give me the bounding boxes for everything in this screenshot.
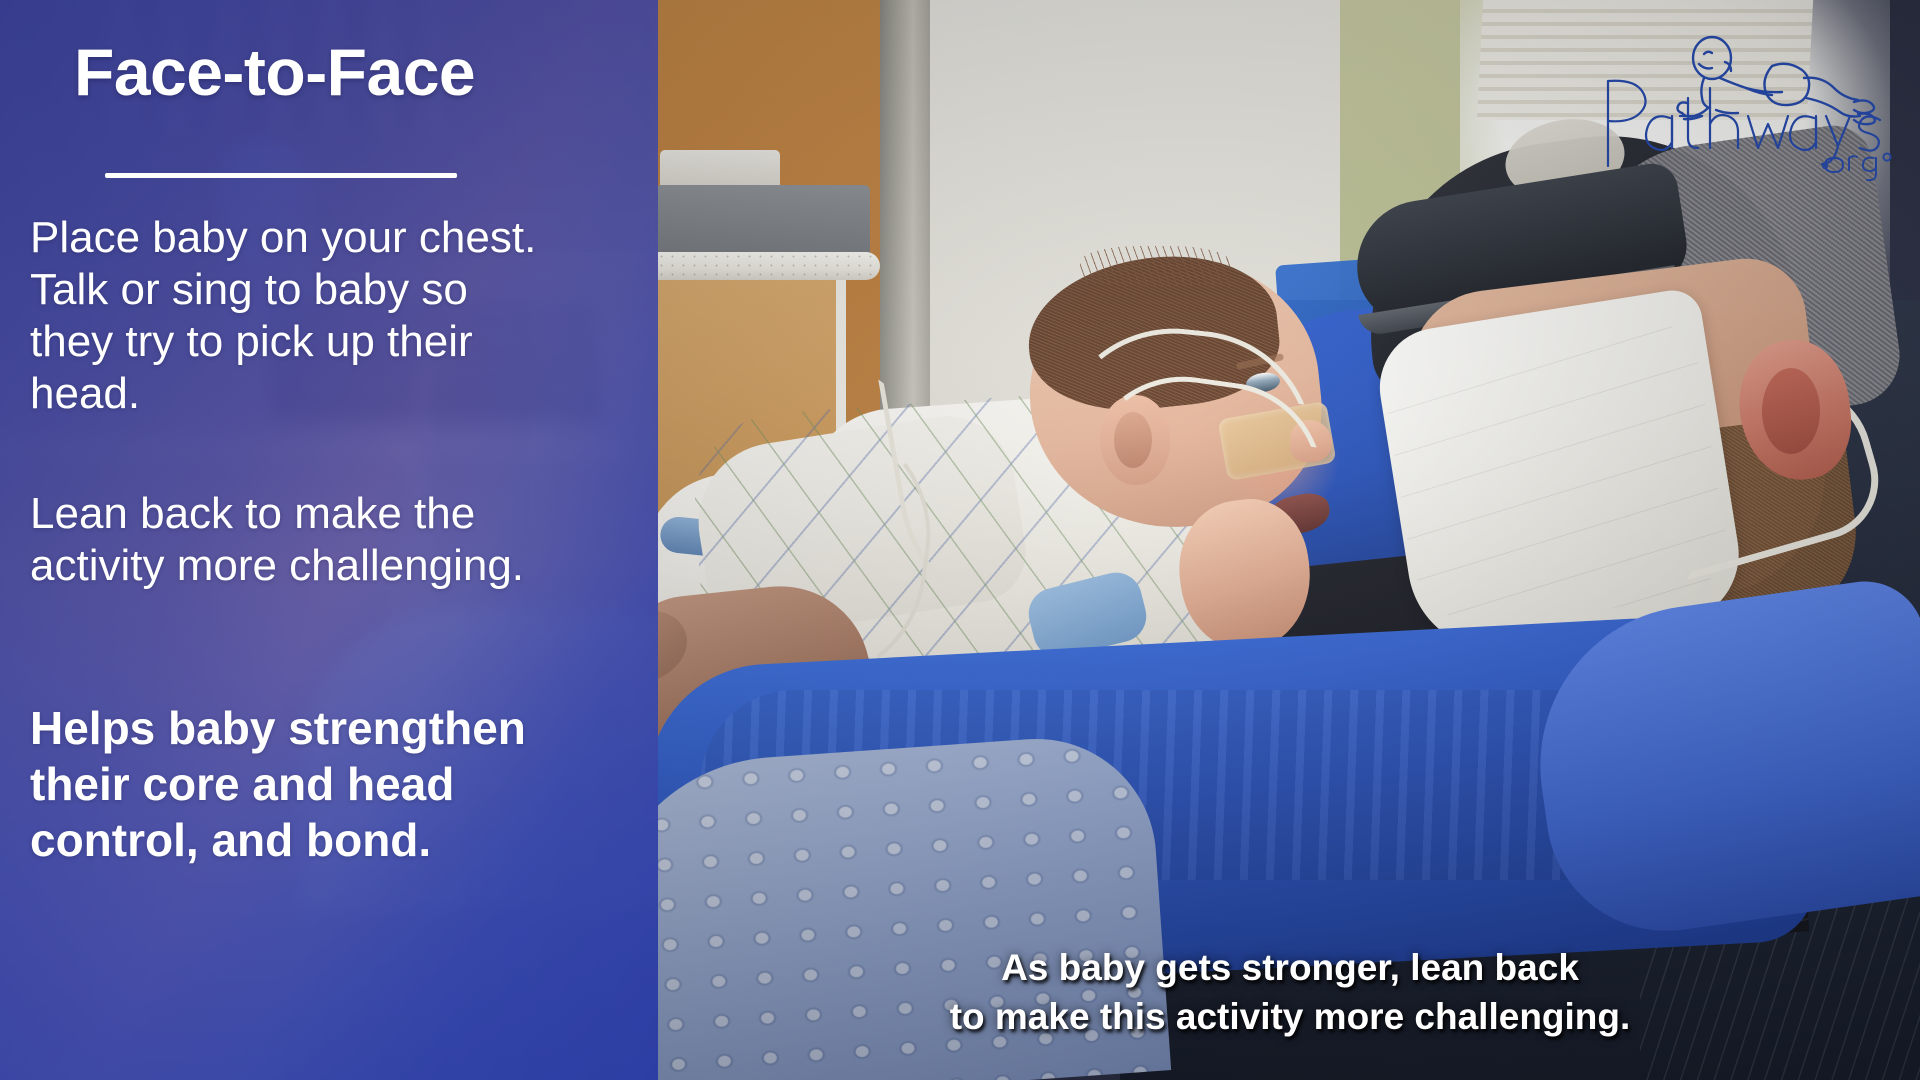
pathways-org-logo[interactable]: [1596, 26, 1896, 186]
baby-hair-wisps: [1080, 246, 1230, 286]
instruction-paragraph-1: Place baby on your chest. Talk or sing t…: [30, 212, 550, 420]
panel-content: Face-to-Face Place baby on your chest. T…: [0, 0, 658, 1080]
photo-caption: As baby gets stronger, lean back to make…: [660, 944, 1920, 1042]
title-divider: [105, 173, 457, 178]
father-ear-inner: [1762, 368, 1820, 454]
text-overlay-panel: Face-to-Face Place baby on your chest. T…: [0, 0, 658, 1080]
tummy-time-baby-icon: [1678, 37, 1875, 124]
dot-org-text: [1823, 153, 1891, 180]
benefit-paragraph: Helps baby strengthen their core and hea…: [30, 700, 575, 868]
caption-line-2: to make this activity more challenging.: [660, 993, 1920, 1042]
page-title: Face-to-Face: [74, 34, 614, 110]
caption-line-1: As baby gets stronger, lean back: [660, 944, 1920, 993]
pathways-logo-svg: [1596, 26, 1896, 186]
instruction-paragraph-2: Lean back to make the activity more chal…: [30, 488, 550, 592]
infographic-slide: Face-to-Face Place baby on your chest. T…: [0, 0, 1920, 1080]
